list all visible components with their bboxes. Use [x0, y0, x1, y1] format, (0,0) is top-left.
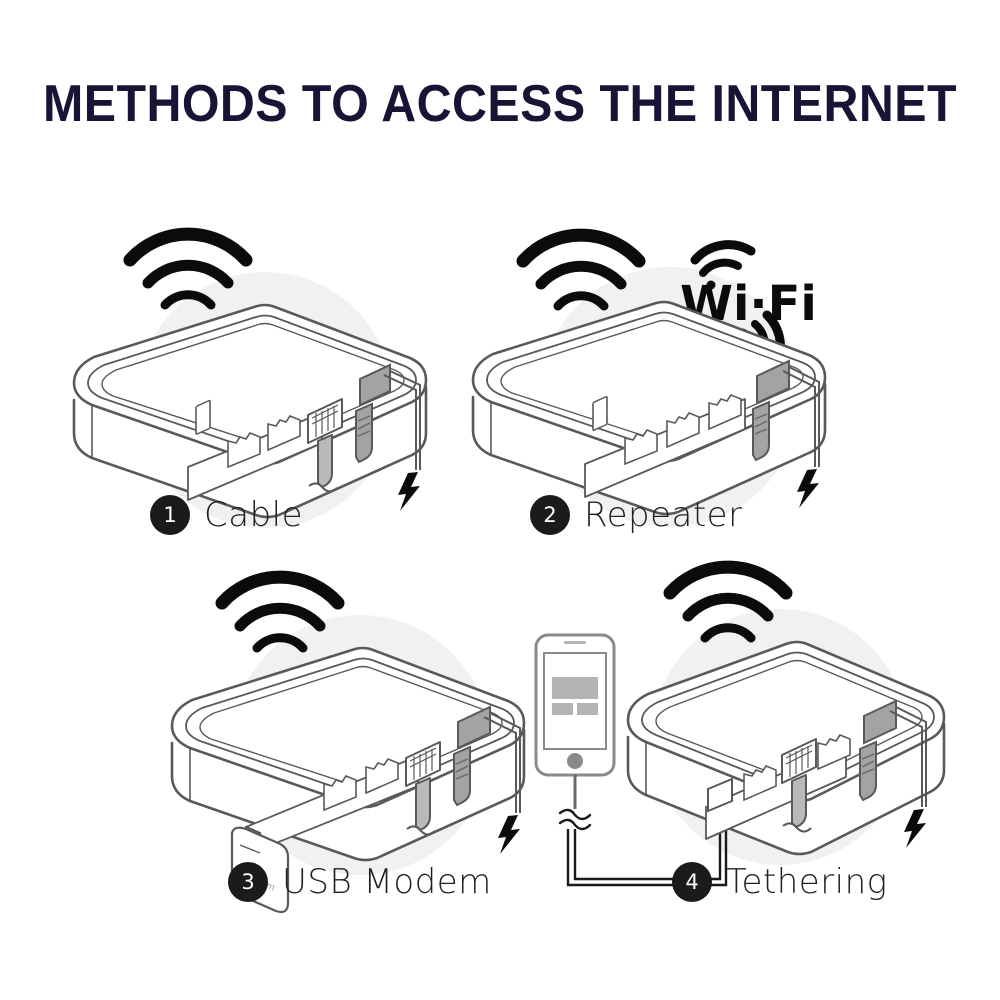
- caption-tethering: 4 Tethering: [672, 862, 888, 902]
- step-badge-4: 4: [672, 862, 712, 902]
- caption-label-4: Tethering: [726, 862, 888, 902]
- screen-block: [577, 703, 598, 715]
- screen-block: [552, 703, 573, 715]
- screen-block: [552, 677, 598, 699]
- smartphone-icon: [536, 635, 614, 775]
- panel-tethering: [530, 555, 960, 915]
- lightning-bolt-icon: [797, 469, 819, 508]
- usb-port: [196, 400, 210, 434]
- step-badge-1: 1: [150, 495, 190, 535]
- lightning-bolt-icon: [904, 809, 926, 848]
- caption-cable: 1 Cable: [150, 495, 303, 535]
- caption-repeater: 2 Repeater: [530, 495, 743, 535]
- usb-port: [593, 396, 607, 430]
- page-title: METHODS TO ACCESS THE INTERNET: [35, 74, 965, 134]
- caption-label-2: Repeater: [584, 495, 743, 535]
- panel-usb-modem: modem: [160, 555, 560, 915]
- step-badge-3: 3: [228, 862, 268, 902]
- step-badge-2: 2: [530, 495, 570, 535]
- lightning-bolt-icon: [398, 472, 420, 511]
- lightning-bolt-icon: [498, 815, 520, 854]
- illustration-usb-modem: modem: [160, 555, 560, 915]
- illustration-tethering: [530, 555, 960, 915]
- caption-usb-modem: 3 USB Modem: [228, 862, 492, 902]
- home-button: [567, 753, 583, 769]
- infographic-canvas: METHODS TO ACCESS THE INTERNET: [0, 0, 1000, 1000]
- caption-label-3: USB Modem: [282, 862, 492, 902]
- caption-label-1: Cable: [204, 495, 303, 535]
